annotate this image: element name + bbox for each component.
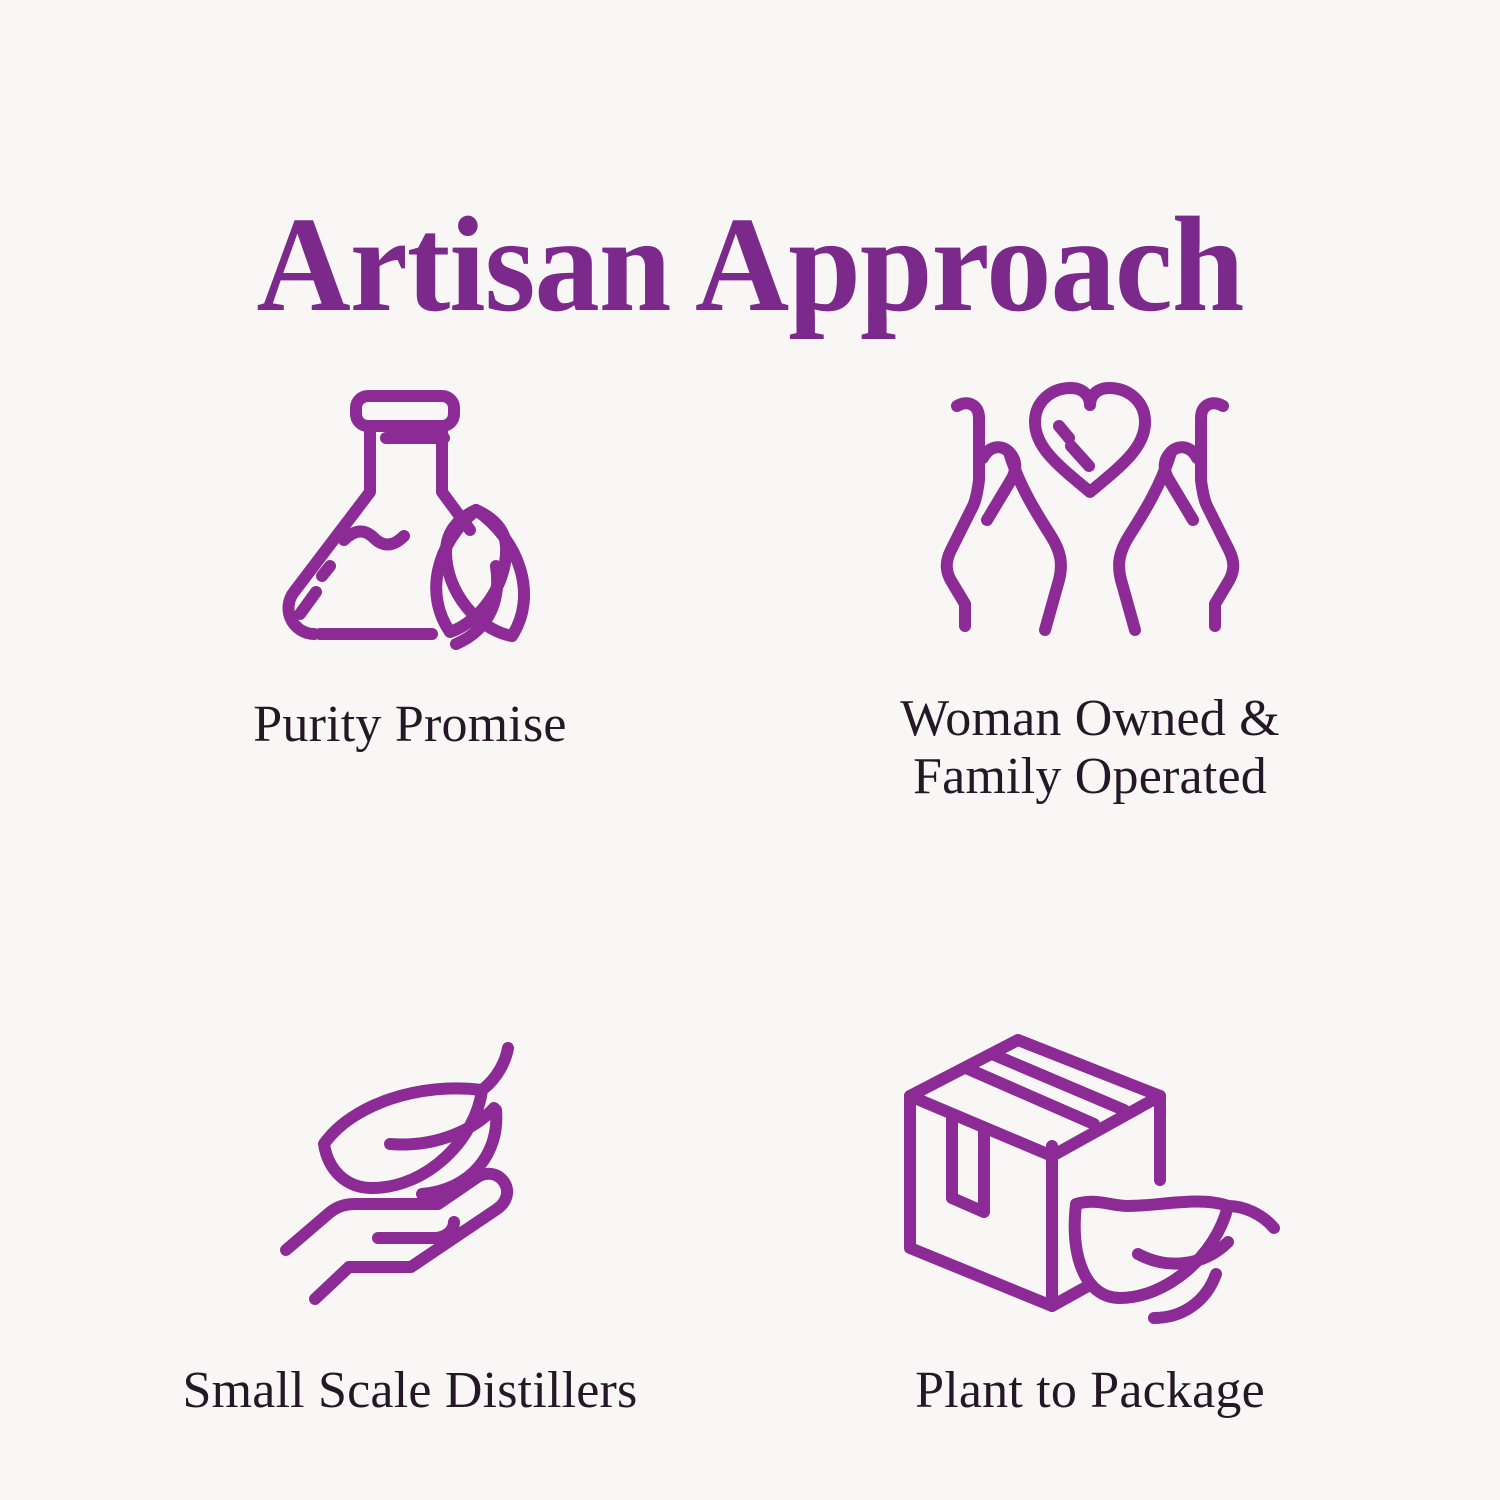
feature-item-plant-to-package: Plant to Package — [770, 806, 1410, 1420]
feature-label-purity-promise: Purity Promise — [253, 696, 566, 754]
feature-item-purity-promise: Purity Promise — [90, 360, 730, 806]
feature-item-woman-owned: Woman Owned & Family Operated — [770, 360, 1410, 806]
hands-heart-icon — [925, 360, 1255, 660]
feature-item-small-scale-distillers: Small Scale Distillers — [90, 806, 730, 1420]
feature-label-small-scale-distillers: Small Scale Distillers — [182, 1362, 637, 1420]
leaf-in-hand-icon — [280, 1028, 540, 1318]
box-leaf-icon — [880, 1028, 1300, 1318]
flask-leaf-icon — [260, 360, 560, 660]
page-title: Artisan Approach — [30, 197, 1470, 333]
artisan-approach-panel: Artisan Approach — [0, 0, 1500, 1500]
feature-label-plant-to-package: Plant to Package — [915, 1362, 1265, 1420]
feature-grid: Purity Promise — [90, 360, 1410, 1370]
feature-label-woman-owned: Woman Owned & Family Operated — [900, 690, 1280, 806]
